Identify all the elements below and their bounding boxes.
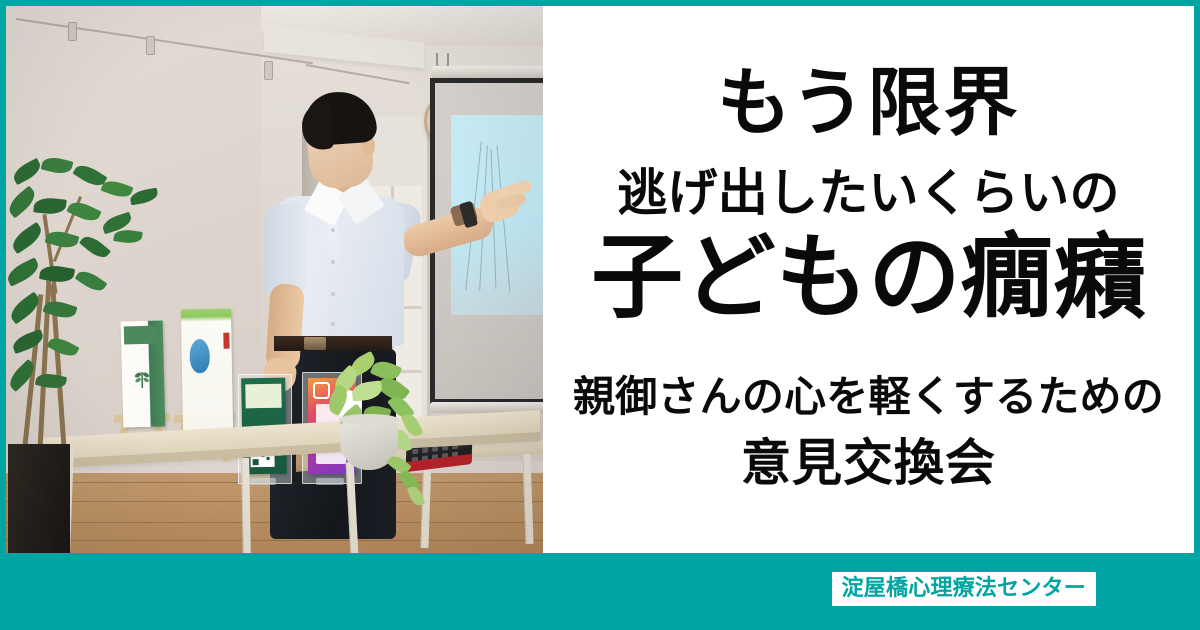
- headline-line-2: 逃げ出したいくらいの: [617, 168, 1120, 218]
- footer-bar: 淀屋橋心理療法センター: [0, 553, 1200, 630]
- belt: [274, 336, 392, 351]
- organization-logo[interactable]: 淀屋橋心理療法センター: [832, 572, 1096, 606]
- light-clip: [68, 22, 77, 41]
- headline-line-4: 親御さんの心を軽くするための: [573, 376, 1164, 418]
- screen-roller: [431, 66, 543, 78]
- acrylic-foot: [316, 478, 344, 485]
- headline-line-3: 子どもの癇癪: [591, 232, 1146, 324]
- plant-pot-rim: [339, 414, 399, 425]
- banner-root: もう限界 逃げ出したいくらいの 子どもの癇癪 親御さんの心を軽くするための 意見…: [0, 0, 1200, 630]
- event-photo: [6, 6, 543, 553]
- acrylic-foot: [250, 478, 276, 485]
- ficus-tree: [6, 154, 178, 454]
- light-clip: [264, 61, 273, 80]
- book-display-2: [181, 309, 233, 434]
- headline-line-5: 意見交換会: [741, 438, 996, 488]
- light-clip: [146, 36, 155, 55]
- table-leg: [241, 458, 251, 553]
- tree-planter: [8, 444, 70, 553]
- shirt-placket: [328, 206, 337, 341]
- speaker-left-sleeve: [264, 204, 306, 296]
- pothos-vine: [386, 458, 436, 510]
- headline-line-1: もう限界: [717, 66, 1020, 140]
- belt-buckle: [304, 337, 326, 350]
- headline-panel: もう限界 逃げ出したいくらいの 子どもの癇癪 親御さんの心を軽くするための 意見…: [543, 6, 1194, 553]
